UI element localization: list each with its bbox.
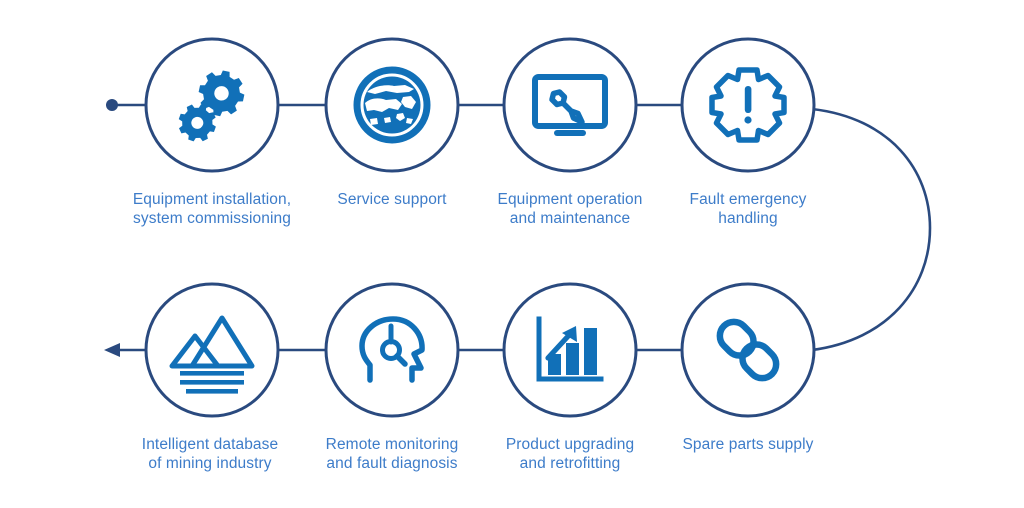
step-label-8: Intelligent database of mining industry <box>112 435 308 473</box>
start-dot <box>106 99 118 111</box>
step-label-4: Fault emergency handling <box>658 190 838 228</box>
step-label-7: Remote monitoring and fault diagnosis <box>294 435 490 473</box>
step-label-6: Product upgrading and retrofitting <box>472 435 668 473</box>
step-circle-8[interactable] <box>146 284 278 416</box>
step-circle-3[interactable] <box>504 39 636 171</box>
process-flow-graphic <box>0 0 1024 508</box>
step-label-2: Service support <box>292 190 492 209</box>
step-label-5: Spare parts supply <box>658 435 838 454</box>
globe-icon <box>357 70 427 140</box>
connector-4-5-curve <box>812 109 930 350</box>
step-label-3: Equipment operation and maintenance <box>470 190 670 228</box>
diagram-canvas: Equipment installation, system commissio… <box>0 0 1024 508</box>
step-circle-7[interactable] <box>326 284 458 416</box>
end-arrowhead <box>104 343 120 357</box>
